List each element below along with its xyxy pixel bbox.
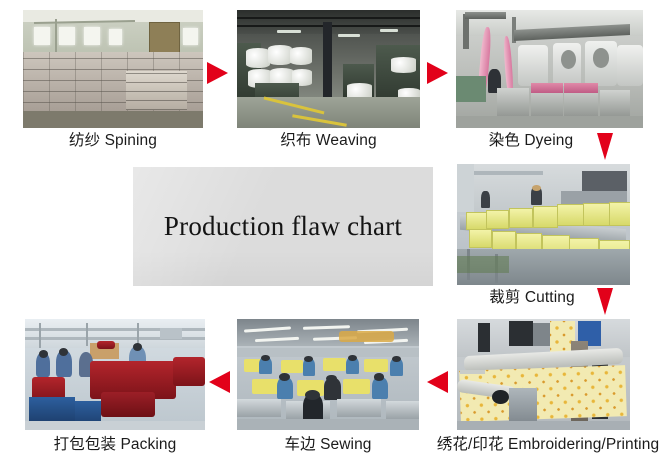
arrow-printing-to-sewing	[427, 371, 448, 393]
printing-scene	[457, 319, 630, 430]
caption-weaving: 织布 Weaving	[237, 133, 420, 149]
dyeing-scene	[456, 10, 643, 128]
arrow-dyeing-to-cutting	[597, 133, 613, 160]
photo-dyeing	[456, 10, 643, 128]
arrow-cutting-to-printing	[597, 288, 613, 315]
spinning-scene	[23, 10, 203, 128]
arrow-sewing-to-packing	[209, 371, 230, 393]
packing-scene	[25, 319, 205, 430]
photo-sewing	[237, 319, 419, 430]
caption-spinning: 纺纱 Spining	[23, 133, 203, 149]
caption-embroidering-printing: 绣花/印花 Embroidering/Printing	[425, 437, 671, 453]
caption-dyeing: 染色 Dyeing	[456, 133, 606, 149]
photo-spinning	[23, 10, 203, 128]
cutting-scene	[457, 164, 630, 285]
sewing-scene	[237, 319, 419, 430]
production-flow-chart: 纺纱 Spining	[0, 0, 671, 473]
caption-sewing: 车边 Sewing	[237, 437, 419, 453]
caption-packing: 打包包装 Packing	[20, 437, 210, 453]
caption-cutting: 裁剪 Cutting	[457, 290, 607, 306]
arrow-weaving-to-dyeing	[427, 62, 448, 84]
photo-weaving	[237, 10, 420, 128]
photo-cutting	[457, 164, 630, 285]
arrow-spinning-to-weaving	[207, 62, 228, 84]
weaving-scene	[237, 10, 420, 128]
page-title: Production flaw chart	[164, 211, 402, 242]
title-plate: Production flaw chart	[133, 167, 433, 286]
photo-packing	[25, 319, 205, 430]
photo-embroidering-printing	[457, 319, 630, 430]
